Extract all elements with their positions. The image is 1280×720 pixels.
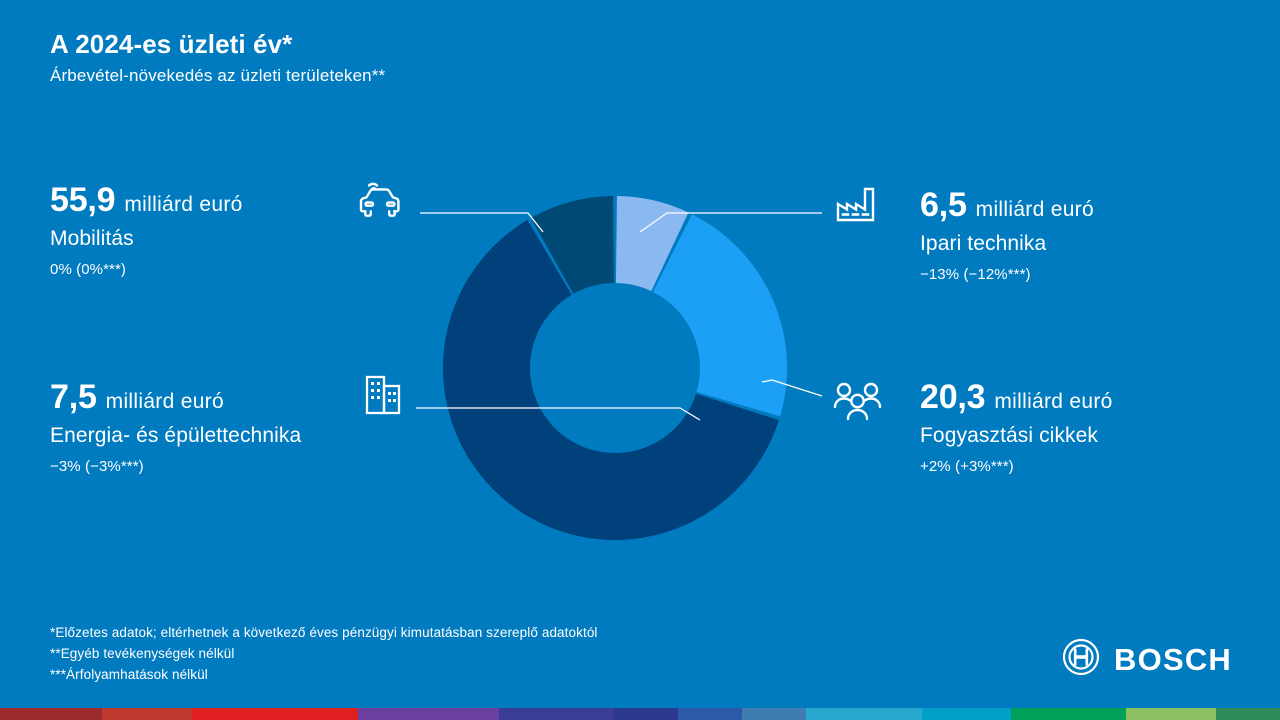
donut-segment <box>653 214 787 416</box>
segment-label-mobility: 55,9 milliárd euró Mobilitás 0% (0%***) <box>50 183 243 278</box>
segment-label-industrial: 6,5 milliárd euró Ipari technika −13% (−… <box>920 188 1094 283</box>
leader-line-industrial <box>640 213 822 232</box>
leader-line-mobility <box>420 213 543 232</box>
supergraphic-band <box>1216 708 1280 720</box>
segment-label-energy: 7,5 milliárd euró Energia- és épülettech… <box>50 380 301 475</box>
supergraphic-band <box>806 708 921 720</box>
supergraphic-band <box>742 708 806 720</box>
donut-segment <box>443 220 779 540</box>
industrial-value-row: 6,5 milliárd euró <box>920 188 1094 222</box>
bosch-wordmark: BOSCH <box>1114 644 1232 675</box>
mobility-name: Mobilitás <box>50 226 243 252</box>
page-title: A 2024-es üzleti év* <box>50 30 850 60</box>
supergraphic-band <box>499 708 614 720</box>
people-group-icon <box>830 378 886 424</box>
consumer-value-row: 20,3 milliárd euró <box>920 380 1113 414</box>
footnotes: *Előzetes adatok; eltérhetnek a következ… <box>50 623 598 686</box>
consumer-delta: +2% (+3%***) <box>920 458 1113 475</box>
segment-label-consumer: 20,3 milliárd euró Fogyasztási cikkek +2… <box>920 380 1113 475</box>
footnote-2: **Egyéb tevékenységek nélkül <box>50 644 598 665</box>
supergraphic-band <box>0 708 102 720</box>
donut-segment <box>616 196 689 291</box>
consumer-value: 20,3 <box>920 380 985 414</box>
mobility-delta: 0% (0%***) <box>50 261 243 278</box>
factory-icon <box>830 182 886 228</box>
mobility-value: 55,9 <box>50 183 115 217</box>
bosch-supergraphic-strip <box>0 708 1280 720</box>
energy-delta: −3% (−3%***) <box>50 458 301 475</box>
bosch-armature-icon <box>1061 637 1101 682</box>
energy-value: 7,5 <box>50 380 97 414</box>
energy-name: Energia- és épülettechnika <box>50 423 301 449</box>
leader-line-consumer <box>762 380 822 396</box>
header: A 2024-es üzleti év* Árbevétel-növekedés… <box>50 30 850 86</box>
supergraphic-band <box>922 708 1012 720</box>
bosch-logo: BOSCH <box>1061 637 1232 682</box>
consumer-unit: milliárd euró <box>994 390 1112 414</box>
industrial-value: 6,5 <box>920 188 967 222</box>
supergraphic-band <box>358 708 499 720</box>
footnote-3: ***Árfolyamhatások nélkül <box>50 665 598 686</box>
energy-unit: milliárd euró <box>106 390 224 414</box>
donut-chart-svg <box>0 0 1280 720</box>
donut-chart <box>0 0 1280 720</box>
buildings-icon <box>355 372 411 418</box>
mobility-value-row: 55,9 milliárd euró <box>50 183 243 217</box>
page-subtitle: Árbevétel-növekedés az üzleti területeke… <box>50 66 850 86</box>
leader-line-energy <box>416 408 700 420</box>
supergraphic-band <box>1126 708 1216 720</box>
supergraphic-band <box>192 708 358 720</box>
supergraphic-band <box>1011 708 1126 720</box>
donut-segments <box>443 196 787 540</box>
donut-segment <box>531 196 614 294</box>
energy-value-row: 7,5 milliárd euró <box>50 380 301 414</box>
footnote-1: *Előzetes adatok; eltérhetnek a következ… <box>50 623 598 644</box>
supergraphic-band <box>678 708 742 720</box>
industrial-unit: milliárd euró <box>976 198 1094 222</box>
car-connected-icon <box>352 175 408 221</box>
supergraphic-band <box>614 708 678 720</box>
industrial-name: Ipari technika <box>920 231 1094 257</box>
mobility-unit: milliárd euró <box>124 193 242 217</box>
supergraphic-band <box>102 708 192 720</box>
industrial-delta: −13% (−12%***) <box>920 266 1094 283</box>
infographic-canvas: A 2024-es üzleti év* Árbevétel-növekedés… <box>0 0 1280 720</box>
consumer-name: Fogyasztási cikkek <box>920 423 1113 449</box>
